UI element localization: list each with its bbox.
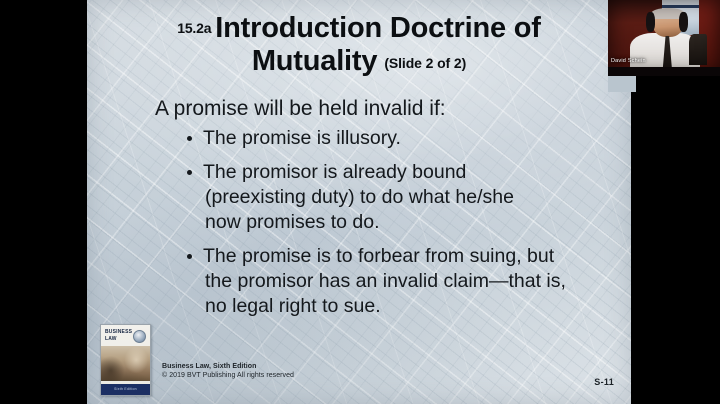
slide-credit: Business Law, Sixth Edition © 2019 BVT P…: [162, 362, 294, 380]
slide-title-main-line-1: Introduction Doctrine of: [215, 12, 540, 44]
webcam-headphone-right-icon: [679, 12, 688, 32]
textbook-cover-thumbnail: Business Law Sixth Edition: [100, 324, 151, 396]
screen-capture: 15.2aIntroduction Doctrine of Mutuality(…: [0, 0, 720, 404]
list-item: The promisor is already bound (preexisti…: [187, 160, 631, 235]
webcam-bottom-bar: [608, 67, 720, 76]
bullet-line-2: (preexisting duty) to do what he/she: [203, 185, 607, 210]
book-cover-edition-label: Sixth Edition: [101, 387, 150, 391]
slide-title-prefix: 15.2a: [177, 20, 211, 36]
slide-title-main-line-2: Mutuality: [252, 45, 377, 77]
publisher-seal-icon: [133, 330, 146, 343]
webcam-person-arm: [689, 34, 707, 64]
list-item: The promise is to forbear from suing, bu…: [187, 244, 631, 319]
webcam-video-tile[interactable]: David Schein: [608, 0, 720, 76]
book-cover-photo: [101, 346, 150, 381]
slide-edge-patch: [608, 76, 636, 92]
credit-title: Business Law, Sixth Edition: [162, 362, 294, 371]
bullet-line-2: the promisor has an invalid claim—that i…: [203, 269, 607, 294]
slide-title-block: 15.2aIntroduction Doctrine of Mutuality(…: [87, 12, 631, 80]
credit-copyright: © 2019 BVT Publishing All rights reserve…: [162, 371, 294, 380]
list-item: The promise is illusory.: [187, 126, 631, 151]
slide-number: S-11: [594, 377, 614, 387]
slide-body: A promise will be held invalid if: The p…: [87, 96, 631, 328]
presentation-slide: 15.2aIntroduction Doctrine of Mutuality(…: [87, 0, 631, 404]
bullet-line-3: no legal right to sue.: [203, 294, 607, 319]
webcam-headphone-left-icon: [646, 12, 655, 32]
slide-lead-text: A promise will be held invalid if:: [87, 96, 631, 122]
webcam-participant-name: David Schein: [611, 57, 646, 65]
bullet-line-1: The promisor is already bound: [203, 161, 466, 183]
book-cover-band: Sixth Edition: [101, 384, 150, 395]
bullet-line-1: The promise is to forbear from suing, bu…: [203, 245, 554, 267]
bullet-line-1: The promise is illusory.: [203, 127, 401, 149]
slide-title-line-2: Mutuality(Slide 2 of 2): [87, 45, 631, 80]
bullet-line-3: now promises to do.: [203, 210, 607, 235]
slide-title-subtitle: (Slide 2 of 2): [384, 55, 466, 71]
slide-bullet-list: The promise is illusory. The promisor is…: [87, 126, 631, 319]
slide-title-line-1: 15.2aIntroduction Doctrine of: [87, 12, 631, 45]
book-cover-title: Business Law: [105, 329, 133, 343]
letterbox-bar-left: [0, 0, 87, 404]
